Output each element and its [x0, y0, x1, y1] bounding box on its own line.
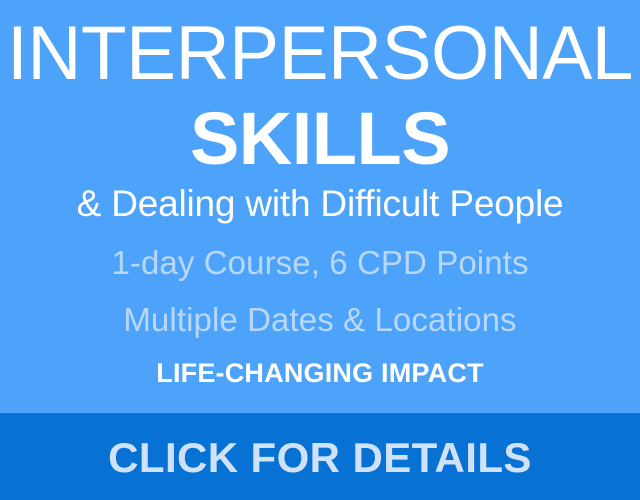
impact-statement: LIFE-CHANGING IMPACT	[0, 357, 640, 389]
subheadline: & Dealing with Difficult People	[0, 183, 640, 225]
cta-button-label: CLICK FOR DETAILS	[108, 435, 532, 481]
advertisement-banner[interactable]: INTERPERSONAL SKILLS & Dealing with Diff…	[0, 0, 640, 500]
course-detail-dates-locations: Multiple Dates & Locations	[0, 301, 640, 339]
click-for-details-button[interactable]: CLICK FOR DETAILS	[0, 413, 640, 500]
headline-line-2: SKILLS	[0, 101, 640, 177]
promo-panel: INTERPERSONAL SKILLS & Dealing with Diff…	[0, 0, 640, 413]
course-detail-duration: 1-day Course, 6 CPD Points	[0, 244, 640, 282]
headline-line-1: INTERPERSONAL	[5, 16, 635, 92]
